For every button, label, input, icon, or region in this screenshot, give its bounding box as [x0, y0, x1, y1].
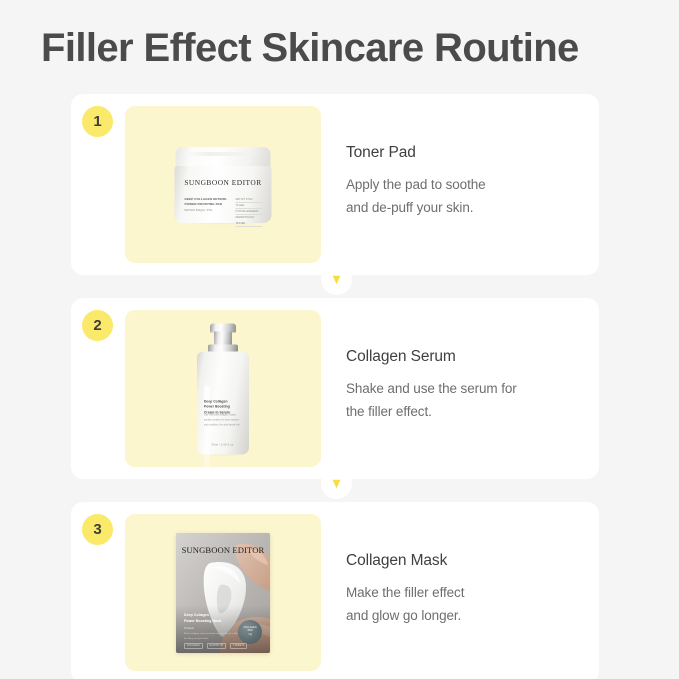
step-card[interactable]: 1 SUNGBOON EDITOR DEEP COLLAGEN RETINOL … [71, 94, 599, 275]
product-brand-label: SUNGBOON EDITOR [175, 178, 272, 187]
step-text-block: Toner Pad Apply the pad to soothe and de… [346, 144, 586, 219]
serum-pump-neck [214, 331, 232, 345]
serum-bottle-illustration: Deep Collagen Power Boosting Cream In Se… [197, 323, 249, 454]
product-subtitle-label: 5 sheets [184, 627, 226, 632]
product-image-collagen-mask-pouch: SUNGBOON EDITOR Deep Collagen Power Boos… [125, 514, 321, 671]
routine-step-list: 1 SUNGBOON EDITOR DEEP COLLAGEN RETINOL … [71, 94, 599, 679]
step-number-badge: 1 [82, 106, 113, 137]
page-title: Filler Effect Skincare Routine [41, 26, 579, 70]
routine-step-1: 1 SUNGBOON EDITOR DEEP COLLAGEN RETINOL … [71, 94, 599, 275]
product-tag-item: 5 SHEETS [230, 643, 247, 648]
step-description: Apply the pad to soothe and de-puff your… [346, 173, 586, 219]
step-description-line-2: and glow go longer. [346, 604, 586, 627]
step-text-block: Collagen Mask Make the filler effect and… [346, 552, 586, 627]
step-description-line-2: and de-puff your skin. [346, 196, 586, 219]
chevron-down-icon [321, 468, 352, 499]
step-description-line-1: Apply the pad to soothe [346, 173, 586, 196]
product-name-label: DEEP COLLAGEN RETINOL POWER BOOSTING PAD [185, 197, 233, 208]
product-tag-item: ELASTIC FIT [207, 643, 227, 648]
jar-illustration: SUNGBOON EDITOR DEEP COLLAGEN RETINOL PO… [175, 147, 272, 223]
mask-pouch-illustration: SUNGBOON EDITOR Deep Collagen Power Boos… [176, 533, 270, 653]
product-spec-item: DERMATOLOGY TESTED [236, 215, 263, 227]
step-text-block: Collagen Serum Shake and use the serum f… [346, 348, 586, 423]
chevron-down-icon [321, 264, 352, 295]
product-seal-line-3: mg [248, 634, 251, 637]
product-name-label: Deep Collagen Power Boosting Mask [184, 612, 230, 625]
jar-lid [176, 147, 271, 168]
product-image-collagen-serum-bottle: Deep Collagen Power Boosting Cream In Se… [125, 310, 321, 467]
routine-step-3: 3 [71, 502, 599, 679]
jar-body: SUNGBOON EDITOR DEEP COLLAGEN RETINOL PO… [175, 166, 272, 223]
step-title: Toner Pad [346, 144, 586, 161]
product-image-tile: SUNGBOON EDITOR DEEP COLLAGEN RETINOL PO… [125, 106, 321, 263]
step-description-line-1: Make the filler effect [346, 581, 586, 604]
product-spec-list: NET WT 170ml 70 pads HYPOALLERGENIC DERM… [236, 197, 263, 227]
product-image-tile: SUNGBOON EDITOR Deep Collagen Power Boos… [125, 514, 321, 671]
product-subtitle-label: RETINOL 500ppm / PHA [185, 209, 229, 213]
product-brand-label: SUNGBOON EDITOR [176, 545, 270, 555]
product-tag-item: COLLAGEN [184, 643, 203, 648]
step-description-line-2: the filler effect. [346, 400, 586, 423]
product-image-tile: Deep Collagen Power Boosting Cream In Se… [125, 310, 321, 467]
product-copy-text: Low molecular collagen, elastin, peptide… [204, 413, 242, 429]
step-card[interactable]: 2 Deep Collagen Power [71, 298, 599, 479]
step-connector-2 [71, 479, 599, 502]
serum-bottle-body: Deep Collagen Power Boosting Cream In Se… [197, 351, 249, 454]
step-connector-1 [71, 275, 599, 298]
step-card[interactable]: 3 [71, 502, 599, 679]
product-tag-list: COLLAGEN ELASTIC FIT 5 SHEETS [184, 643, 247, 648]
step-description-line-1: Shake and use the serum for [346, 377, 586, 400]
step-title: Collagen Mask [346, 552, 586, 569]
product-volume-label: 50ml / 1.69 fl.oz. [197, 443, 249, 446]
step-description: Shake and use the serum for the filler e… [346, 377, 586, 423]
product-copy-text: Elastic collagen sheet mask that clings … [184, 632, 240, 641]
routine-step-2: 2 Deep Collagen Power [71, 298, 599, 479]
step-description: Make the filler effect and glow go longe… [346, 581, 586, 627]
product-seal-badge: COLLAGEN 3000 mg [238, 620, 262, 644]
product-name-line-2: POWER BOOSTING PAD [185, 202, 233, 207]
step-number-badge: 3 [82, 514, 113, 545]
step-title: Collagen Serum [346, 348, 586, 365]
product-name-line-2: Power Boosting Mask [184, 618, 230, 624]
step-number-badge: 2 [82, 310, 113, 341]
infographic-page: Filler Effect Skincare Routine 1 SUNGBOO… [0, 0, 679, 679]
product-image-toner-pad-jar: SUNGBOON EDITOR DEEP COLLAGEN RETINOL PO… [125, 106, 321, 263]
